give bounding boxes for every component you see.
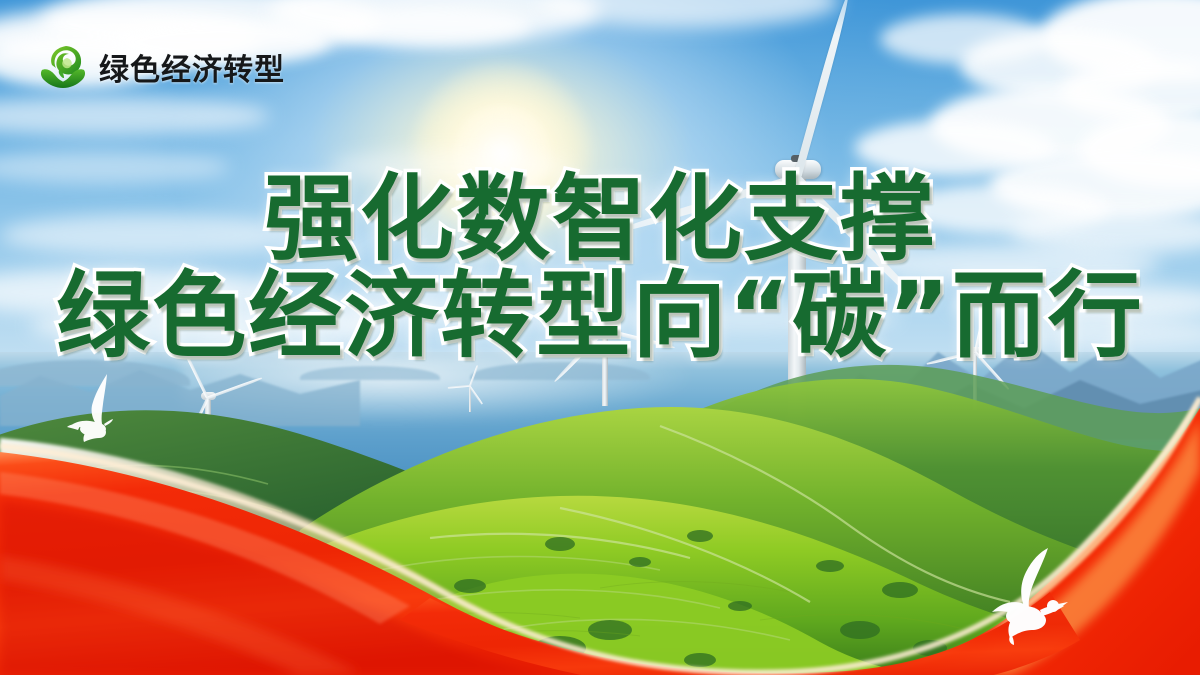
- dove-right: [980, 548, 1072, 646]
- brand-logo-text: 绿色经济转型: [99, 45, 285, 89]
- poster-canvas: 绿色经济转型 强化数智化支撑 绿色经济转型向“碳”而行: [0, 0, 1200, 675]
- brand-logo[interactable]: 绿色经济转型: [36, 40, 285, 94]
- dove-left: [62, 370, 128, 444]
- leaf-in-hands-icon: [36, 40, 90, 94]
